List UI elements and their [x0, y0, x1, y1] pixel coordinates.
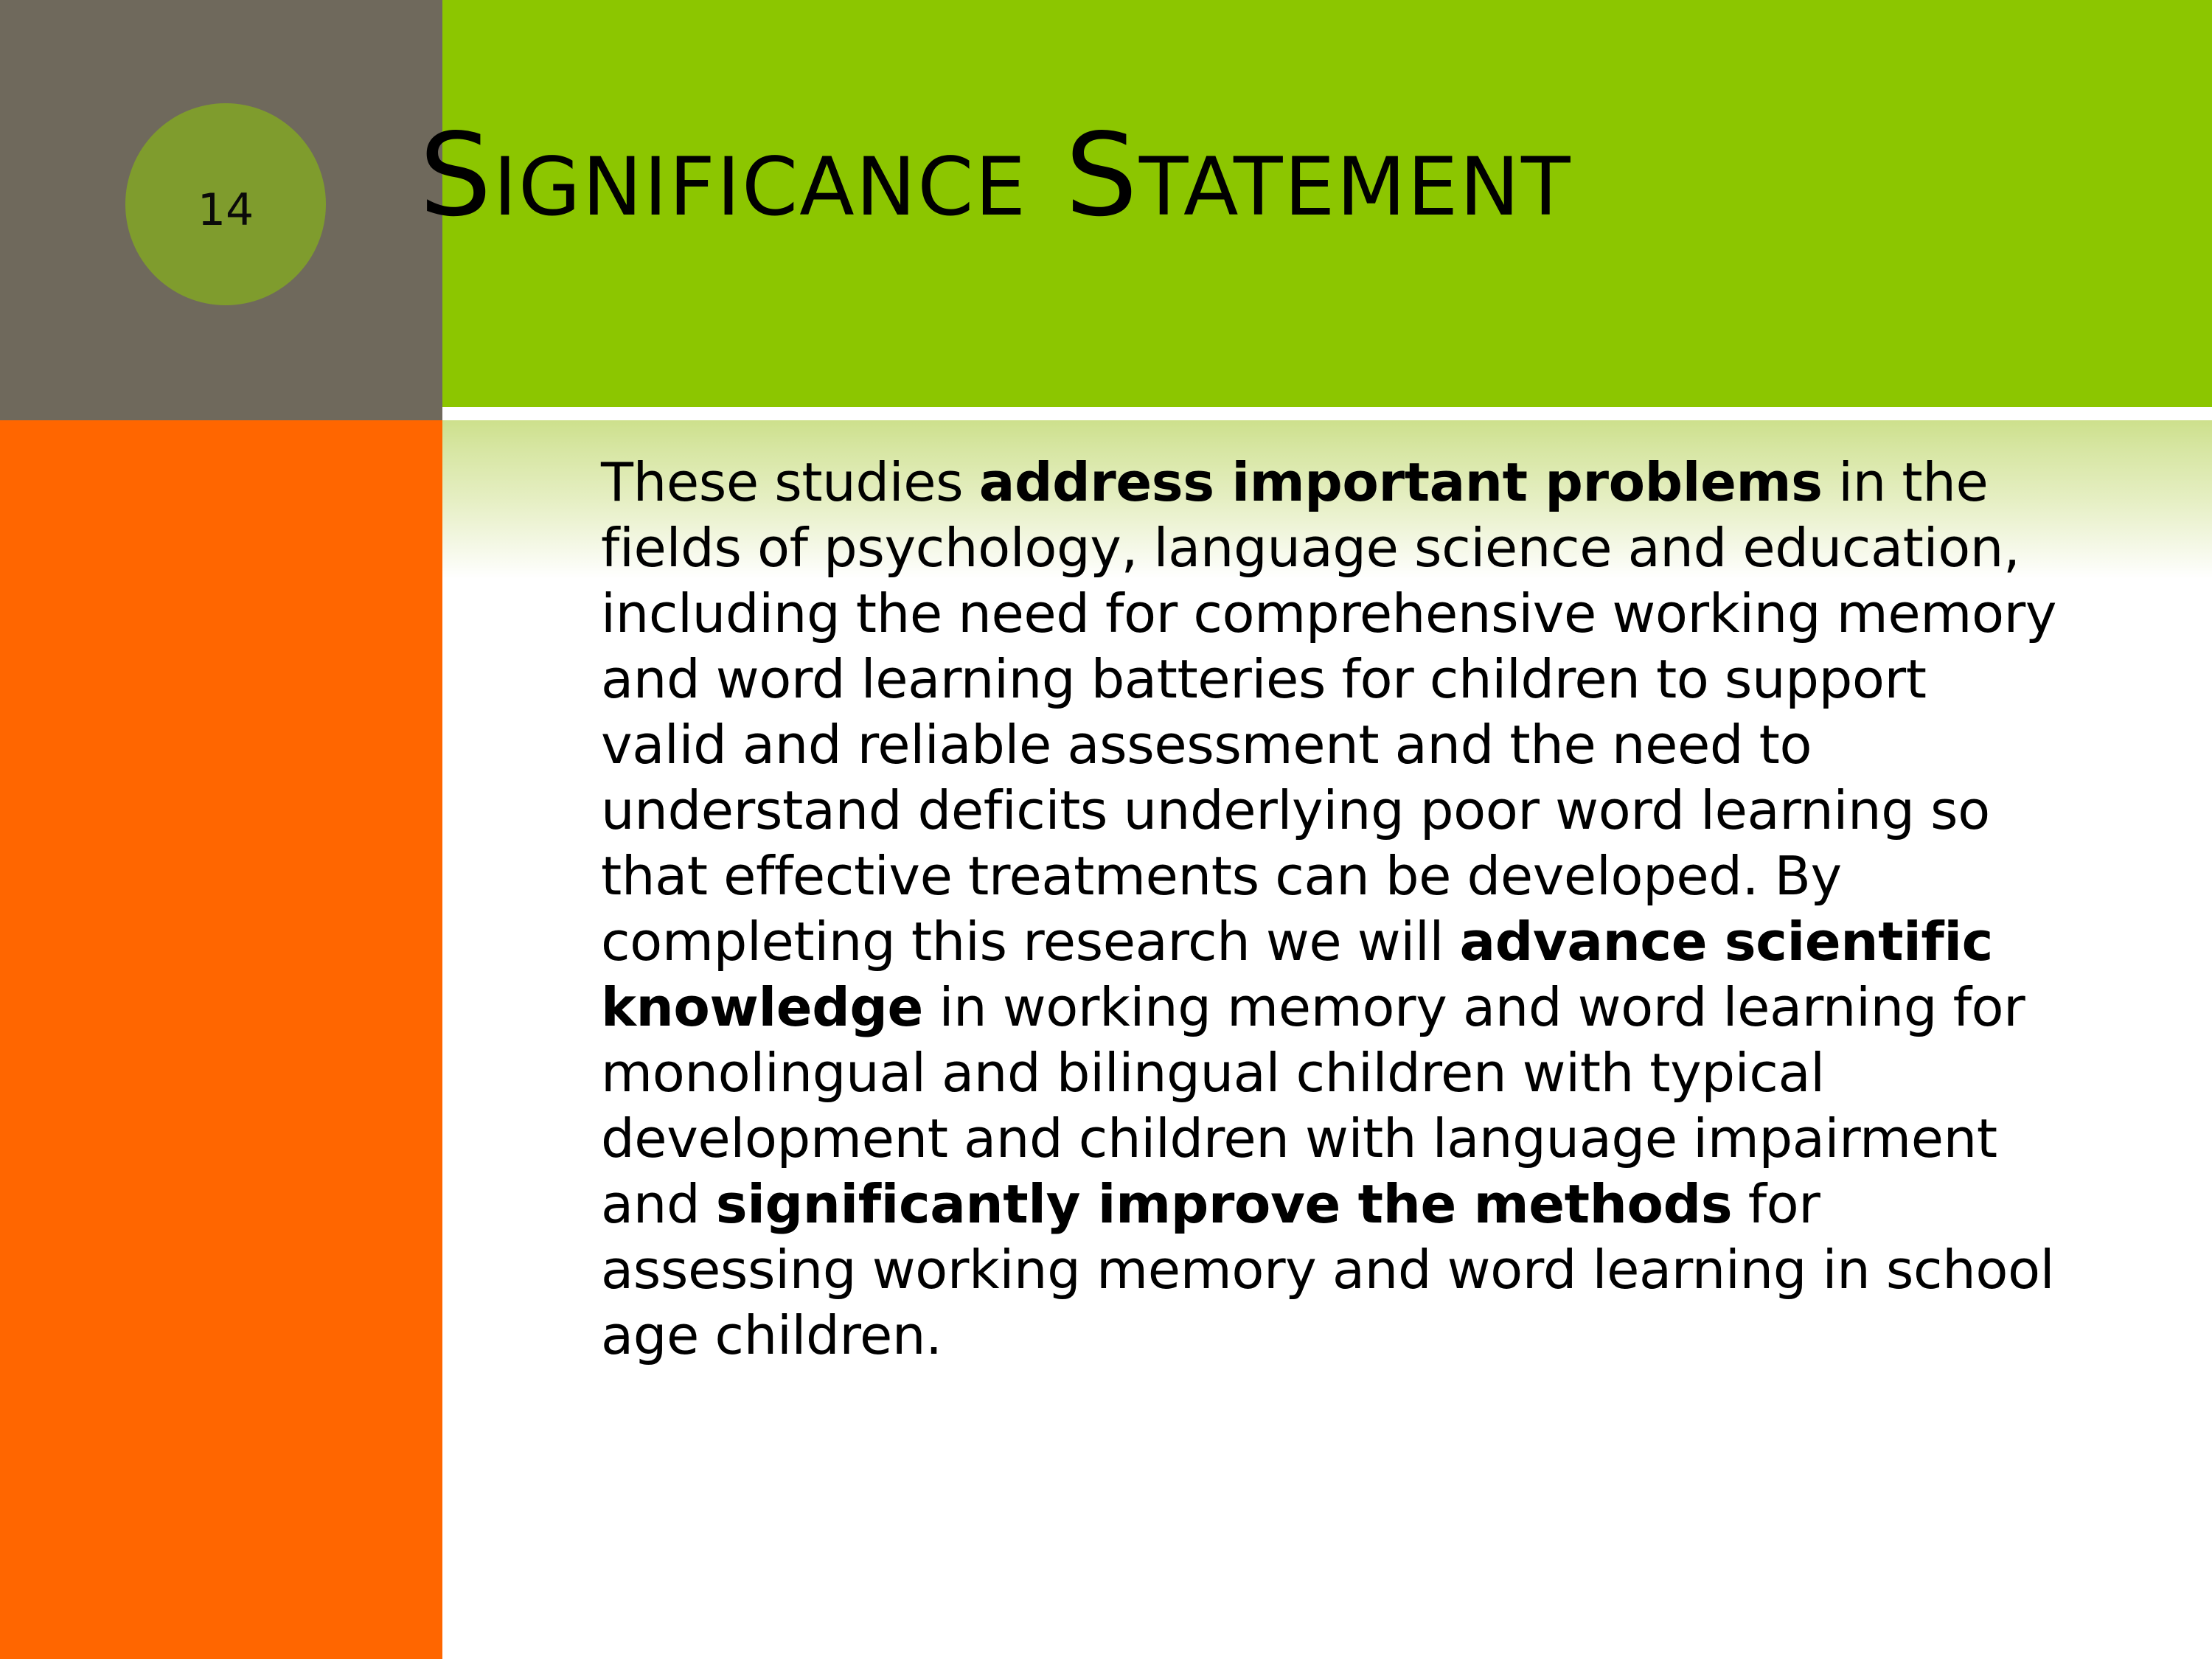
page-title: Significance Statement	[258, 118, 1733, 232]
banner-divider	[442, 407, 2212, 420]
body-emphasis-text: significantly improve the methods	[716, 1173, 1732, 1235]
body-paragraph: These studies address important problems…	[601, 450, 2057, 1368]
slide-number-label: 14	[198, 188, 254, 232]
accent-sidebar-block	[0, 420, 442, 1659]
body-plain-text: in the fields of psychology, language sc…	[601, 451, 2056, 973]
presentation-slide: 14 Significance Statement These studies …	[0, 0, 2212, 1659]
body-emphasis-text: address important problems	[979, 451, 1823, 513]
body-plain-text: These studies	[601, 451, 979, 513]
